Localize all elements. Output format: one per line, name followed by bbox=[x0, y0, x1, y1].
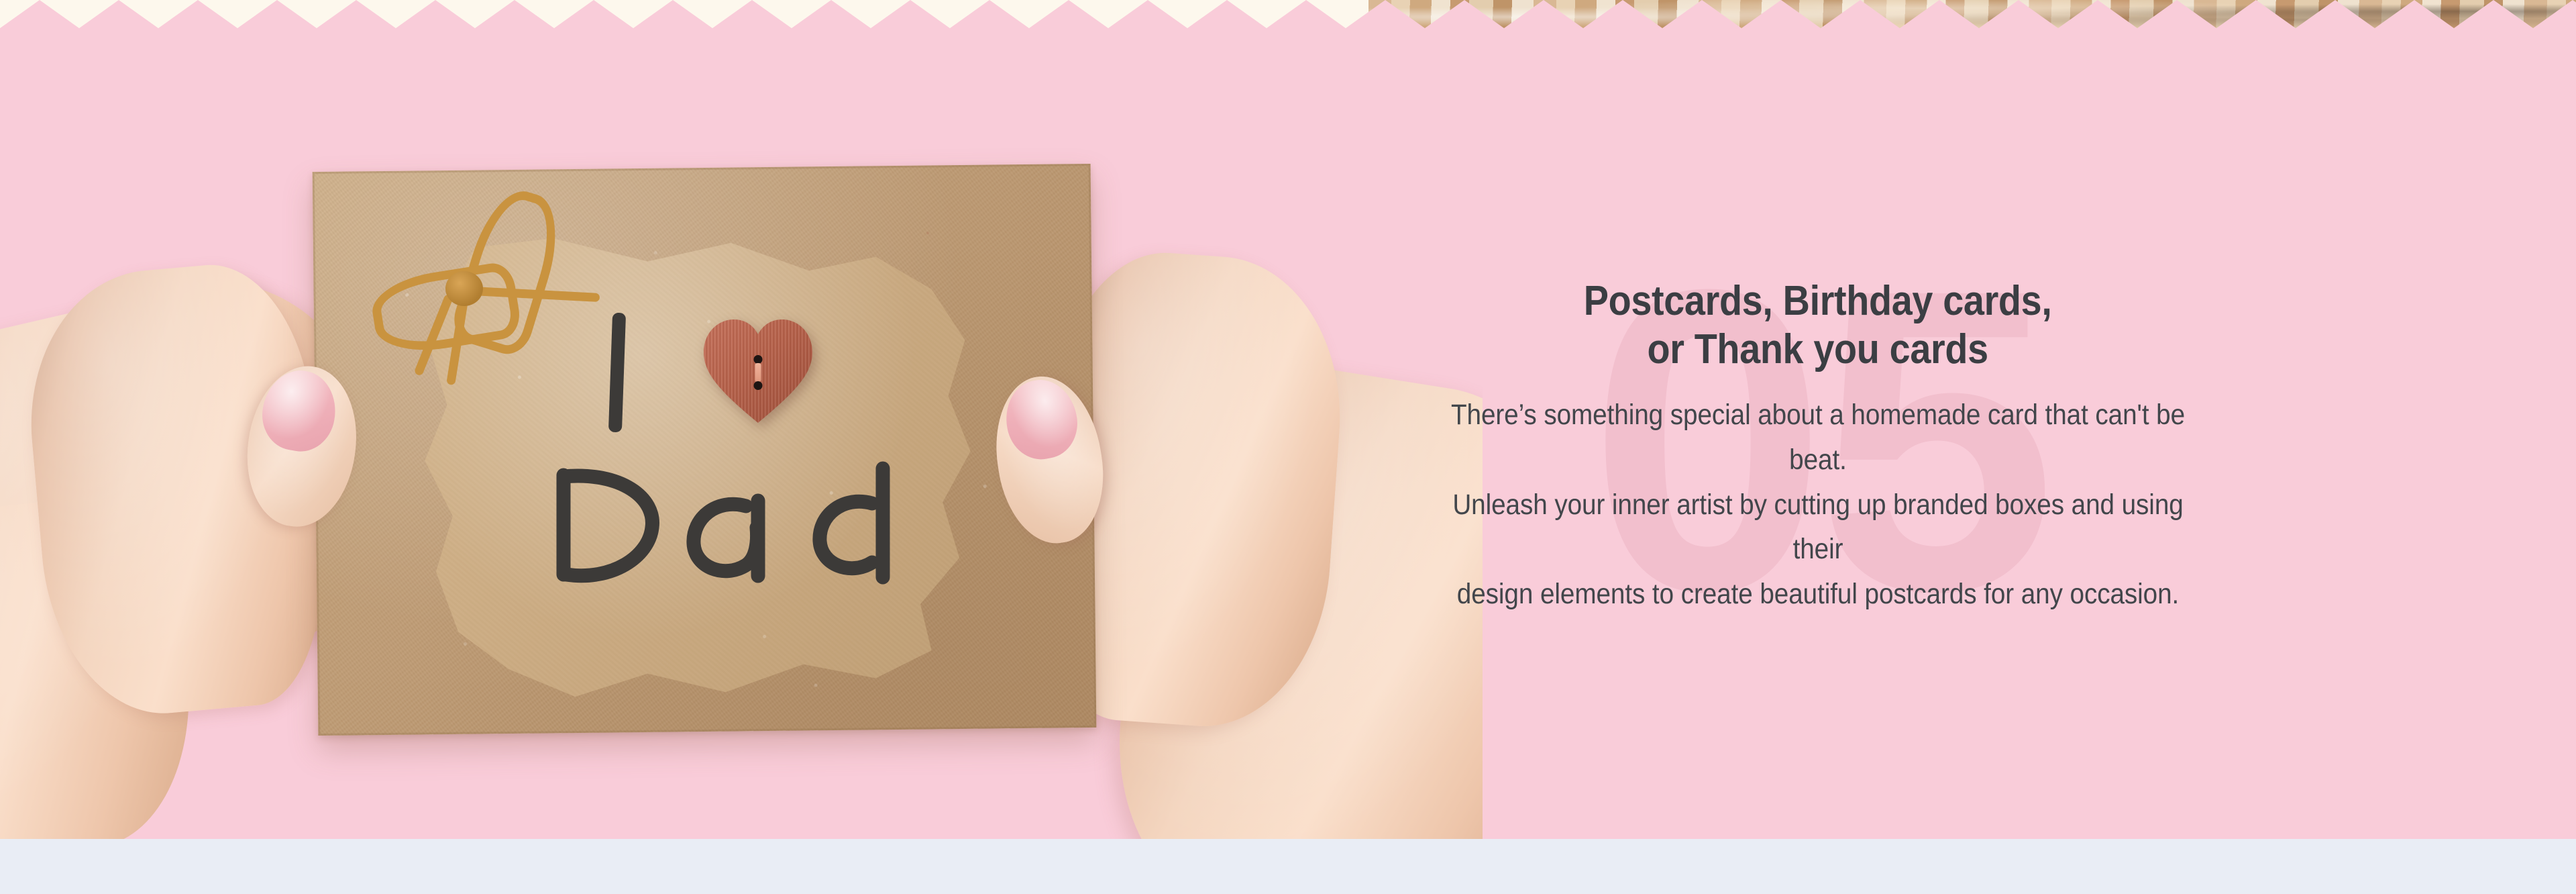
promo-banner: 05 Postcards, Birthday cards, or Thank y… bbox=[0, 0, 2576, 894]
handwritten-word-dad bbox=[537, 456, 912, 597]
bottom-edge-strip bbox=[0, 839, 2576, 894]
banner-heading-line-1: Postcards, Birthday cards, bbox=[1584, 277, 2052, 326]
banner-text-panel: 05 Postcards, Birthday cards, or Thank y… bbox=[1382, 0, 2254, 894]
top-strip-photo-sliver bbox=[1368, 0, 2576, 28]
top-edge-strip bbox=[0, 0, 2576, 28]
twine-bow-knot bbox=[445, 271, 483, 306]
wooden-heart-button bbox=[701, 315, 815, 426]
banner-heading: Postcards, Birthday cards, or Thank you … bbox=[1584, 277, 2052, 374]
banner-heading-line-2: or Thank you cards bbox=[1584, 326, 2052, 374]
banner-photo bbox=[0, 0, 1483, 894]
top-strip-cream-area bbox=[0, 0, 1368, 28]
banner-body-copy: There’s something special about a homema… bbox=[1426, 393, 2210, 616]
heart-button-holes bbox=[754, 355, 763, 390]
